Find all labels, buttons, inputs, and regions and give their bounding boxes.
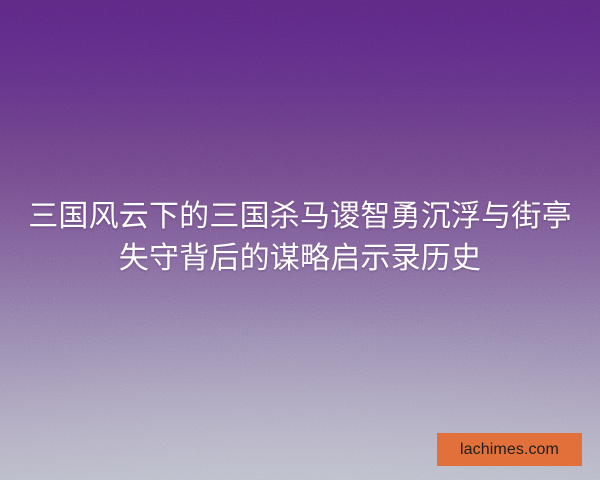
cover-image-canvas: 三国风云下的三国杀马谡智勇沉浮与街亭 失守背后的谋略启示录历史 lachimes… bbox=[0, 0, 600, 480]
page-title: 三国风云下的三国杀马谡智勇沉浮与街亭 失守背后的谋略启示录历史 bbox=[0, 196, 600, 280]
page-title-line-2: 失守背后的谋略启示录历史 bbox=[26, 238, 574, 280]
page-title-line-1: 三国风云下的三国杀马谡智勇沉浮与街亭 bbox=[26, 196, 574, 238]
watermark-label: lachimes.com bbox=[460, 442, 559, 458]
watermark-badge[interactable]: lachimes.com bbox=[437, 433, 582, 466]
